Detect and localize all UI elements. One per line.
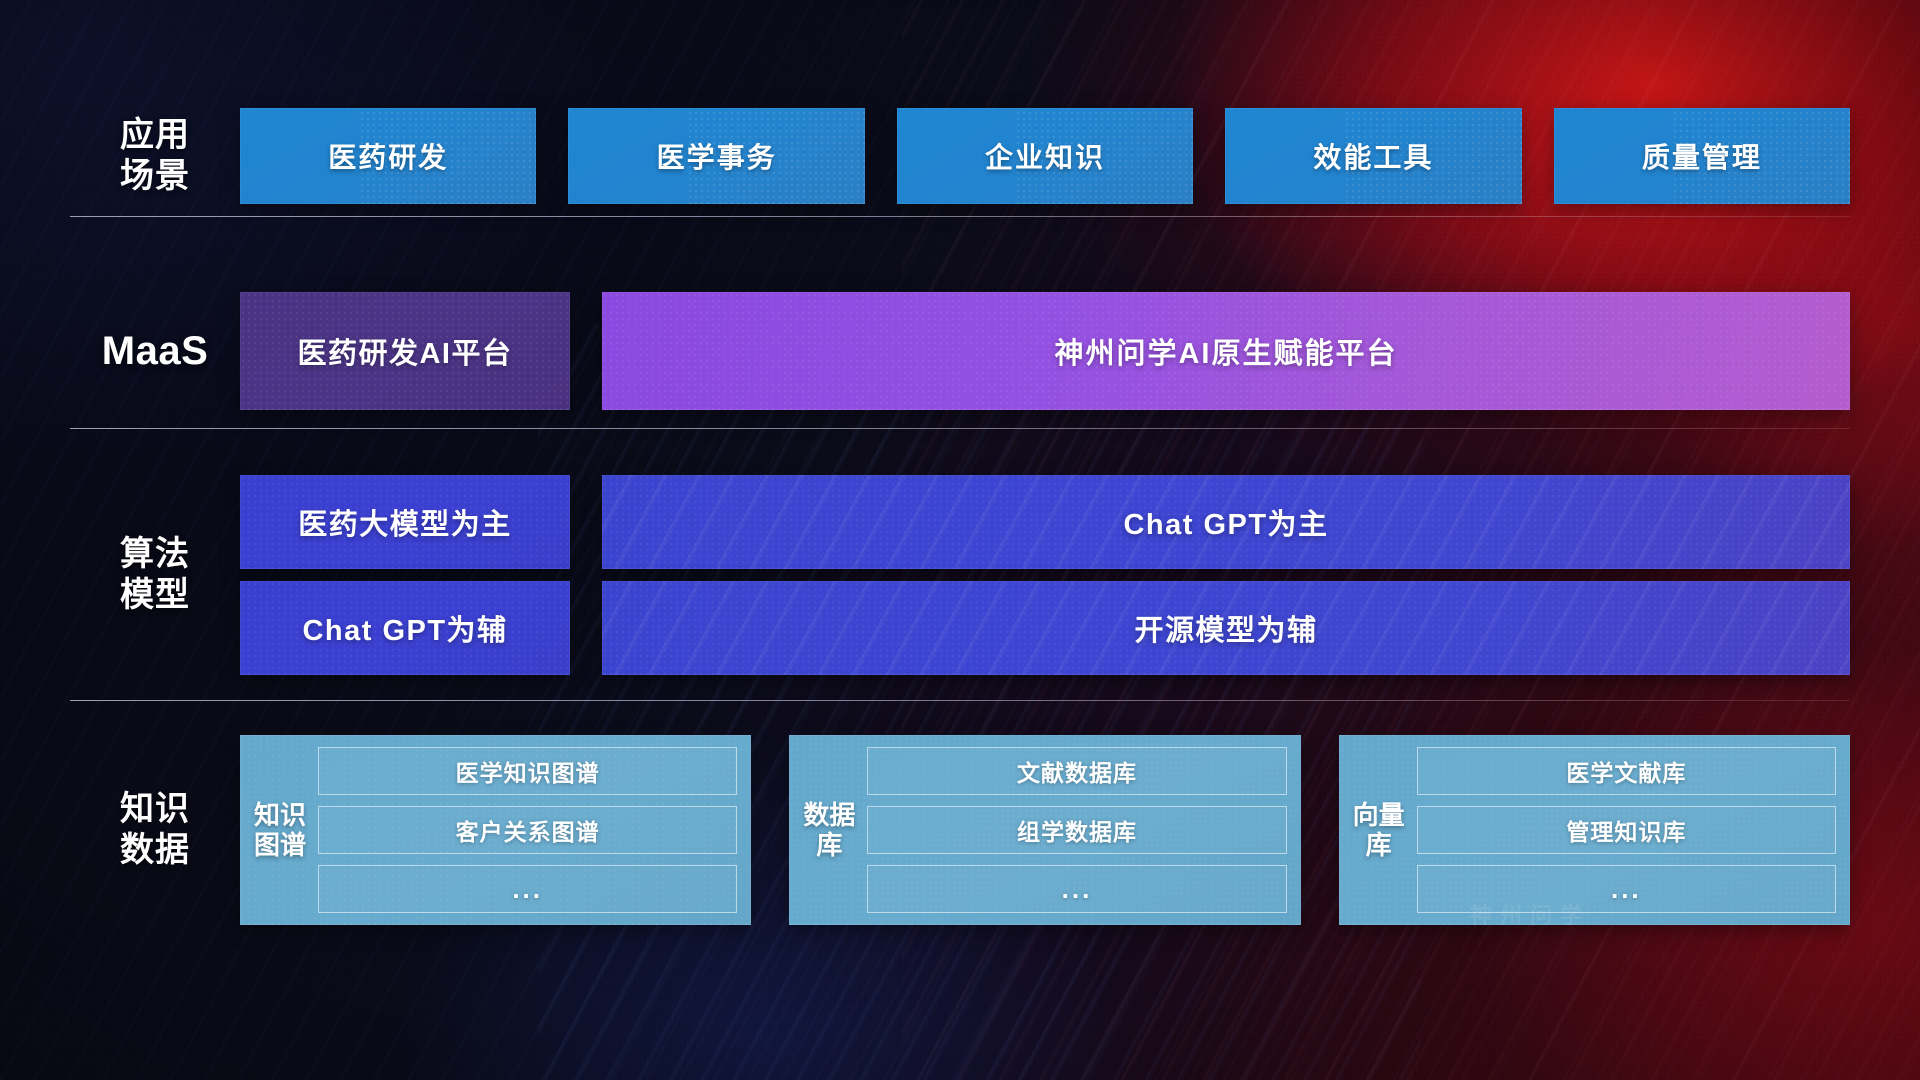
knowledge-item-customer-relation-graph[interactable]: 客户关系图谱 (318, 806, 737, 854)
knowledge-item-literature-database[interactable]: 文献数据库 (867, 747, 1286, 795)
row-label-application-scenarios: 应用 场景 (70, 115, 240, 198)
algorithm-left-label: 医药大模型为主 (298, 501, 512, 543)
algorithm-box-pharma-llm-primary[interactable]: 医药大模型为主 (240, 475, 570, 569)
algorithm-line-primary: 医药大模型为主 Chat GPT为主 (240, 475, 1850, 569)
knowledge-item-more[interactable]: ... (318, 865, 737, 913)
application-box-label: 企业知识 (985, 136, 1105, 176)
knowledge-item-more[interactable]: ... (1417, 865, 1836, 913)
application-box-label: 医学事务 (657, 136, 777, 176)
row-algorithm-models: 算法 模型 医药大模型为主 Chat GPT为主 Chat GPT为辅 (70, 470, 1850, 680)
row-application-scenarios: 应用 场景 医药研发 医学事务 企业知识 效能工具 质量管理 (70, 108, 1850, 204)
divider-application-maas (70, 216, 1850, 217)
application-box-label: 质量管理 (1642, 136, 1762, 176)
application-box-quality-management[interactable]: 质量管理 (1554, 108, 1850, 204)
knowledge-panel-title: 知识图谱 (254, 747, 306, 913)
row-label-maas: MaaS (70, 327, 240, 376)
application-box-drug-rd[interactable]: 医药研发 (240, 108, 536, 204)
algorithm-line-secondary: Chat GPT为辅 开源模型为辅 (240, 581, 1850, 675)
maas-box-drug-rd-ai-platform[interactable]: 医药研发AI平台 (240, 292, 570, 410)
algorithm-left-label: Chat GPT为辅 (302, 607, 507, 649)
row-label-knowledge-data: 知识 数据 (70, 789, 240, 872)
knowledge-panel-vector-store[interactable]: 向量库 医学文献库 管理知识库 ... (1339, 735, 1850, 925)
knowledge-item-medical-knowledge-graph[interactable]: 医学知识图谱 (318, 747, 737, 795)
maas-boxes: 医药研发AI平台 神州问学AI原生赋能平台 (240, 292, 1850, 410)
maas-spacer (570, 292, 602, 410)
divider-algorithm-knowledge (70, 700, 1850, 701)
knowledge-panel-items: 文献数据库 组学数据库 ... (867, 747, 1286, 913)
maas-box-shenzhou-wenxue-platform[interactable]: 神州问学AI原生赋能平台 (602, 292, 1850, 410)
knowledge-item-management-knowledge-store[interactable]: 管理知识库 (1417, 806, 1836, 854)
algorithm-box-chatgpt-primary[interactable]: Chat GPT为主 (602, 475, 1850, 569)
knowledge-item-omics-database[interactable]: 组学数据库 (867, 806, 1286, 854)
knowledge-item-medical-literature-store[interactable]: 医学文献库 (1417, 747, 1836, 795)
maas-left-label: 医药研发AI平台 (297, 330, 512, 372)
algorithm-right-label: Chat GPT为主 (1123, 501, 1328, 543)
maas-right-label: 神州问学AI原生赋能平台 (1054, 330, 1397, 372)
knowledge-panel-items: 医学知识图谱 客户关系图谱 ... (318, 747, 737, 913)
application-box-enterprise-knowledge[interactable]: 企业知识 (897, 108, 1193, 204)
algorithm-boxes: 医药大模型为主 Chat GPT为主 Chat GPT为辅 (240, 475, 1850, 675)
knowledge-panel-title: 数据库 (803, 747, 855, 913)
algorithm-box-chatgpt-secondary[interactable]: Chat GPT为辅 (240, 581, 570, 675)
knowledge-panel-database[interactable]: 数据库 文献数据库 组学数据库 ... (789, 735, 1300, 925)
knowledge-item-more[interactable]: ... (867, 865, 1286, 913)
knowledge-panel-knowledge-graph[interactable]: 知识图谱 医学知识图谱 客户关系图谱 ... (240, 735, 751, 925)
row-maas: MaaS 医药研发AI平台 神州问学AI原生赋能平台 (70, 292, 1850, 410)
application-box-label: 医药研发 (328, 136, 448, 176)
algorithm-spacer (570, 581, 602, 675)
row-label-algorithm-models: 算法 模型 (70, 534, 240, 617)
application-box-label: 效能工具 (1313, 136, 1433, 176)
knowledge-panels: 知识图谱 医学知识图谱 客户关系图谱 ... 数据库 文献数据库 组学数据库 .… (240, 735, 1850, 925)
architecture-diagram: 应用 场景 医药研发 医学事务 企业知识 效能工具 质量管理 (0, 0, 1920, 1080)
divider-maas-algorithm (70, 428, 1850, 429)
algorithm-box-opensource-secondary[interactable]: 开源模型为辅 (602, 581, 1850, 675)
application-box-medical-affairs[interactable]: 医学事务 (568, 108, 864, 204)
application-boxes: 医药研发 医学事务 企业知识 效能工具 质量管理 (240, 108, 1850, 204)
algorithm-right-label: 开源模型为辅 (1134, 607, 1317, 649)
knowledge-panel-items: 医学文献库 管理知识库 ... (1417, 747, 1836, 913)
application-box-efficiency-tools[interactable]: 效能工具 (1225, 108, 1521, 204)
algorithm-spacer (570, 475, 602, 569)
row-knowledge-data: 知识 数据 知识图谱 医学知识图谱 客户关系图谱 ... 数据库 文献数据库 组… (70, 730, 1850, 930)
knowledge-panel-title: 向量库 (1353, 747, 1405, 913)
